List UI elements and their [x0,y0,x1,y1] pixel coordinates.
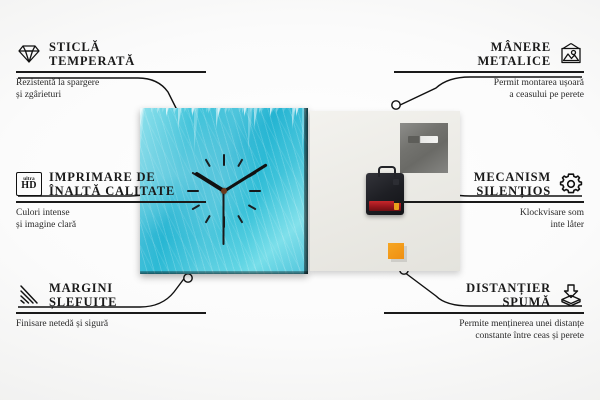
callout-high-quality-print: ultra HD IMPRIMARE DE ÎNALTĂ CALITATE Cu… [16,170,206,231]
glass-edge-right [304,108,308,274]
infographic-canvas: STICLĂ TEMPERATĂ Rezistentă la spargere … [0,0,600,400]
callout-polished-edges: MARGINI ȘLEFUITE Finisare netedă și sigu… [16,281,206,330]
callout-rule [384,312,584,314]
gear-icon [558,171,584,197]
picture-frame-hanger-icon [558,41,584,67]
polished-edge-icon [16,282,42,308]
callout-title: MECANISM SILENȚIOS [474,170,551,198]
callout-rule [16,312,206,314]
callout-subtitle: Finisare netedă și sigură [16,318,206,330]
callout-title: MARGINI ȘLEFUITE [49,281,117,309]
callout-rule [16,71,206,73]
callout-rule [16,201,206,203]
callout-subtitle: Permit montarea ușoară a ceasului pe per… [394,77,584,101]
callout-metal-handles: MÂNERE METALICE Permit montarea ușoară a… [394,40,584,101]
hanger-keyhole-slot [408,136,438,143]
clock-center-cap [221,188,227,194]
callout-subtitle: Klockvisare som inte låter [394,207,584,231]
callout-rule [394,201,584,203]
callout-title: IMPRIMARE DE ÎNALTĂ CALITATE [49,170,175,198]
callout-foam-spacer: DISTANȚIER SPUMĂ Permite menținerea unei… [384,281,584,342]
foam-spacer [388,243,404,259]
callout-subtitle: Culori intense și imagine clară [16,207,206,231]
callout-title: STICLĂ TEMPERATĂ [49,40,135,68]
callout-tempered-glass: STICLĂ TEMPERATĂ Rezistentă la spargere … [16,40,206,101]
callout-silent-mechanism: MECANISM SILENȚIOS Klockvisare som inte … [394,170,584,231]
callout-title: DISTANȚIER SPUMĂ [466,281,551,309]
ultra-hd-icon: ultra HD [16,171,42,197]
callout-title: MÂNERE METALICE [477,40,551,68]
callout-subtitle: Rezistentă la spargere și zgârieturi [16,77,206,101]
callout-rule [394,71,584,73]
diamond-icon [16,41,42,67]
arrow-down-pad-icon [558,282,584,308]
callout-subtitle: Permite menținerea unei distanțe constan… [384,318,584,342]
metal-hanger-plate [400,123,448,173]
ultra-hd-icon-large-text: HD [21,181,37,191]
glass-edge-bottom [140,271,308,274]
